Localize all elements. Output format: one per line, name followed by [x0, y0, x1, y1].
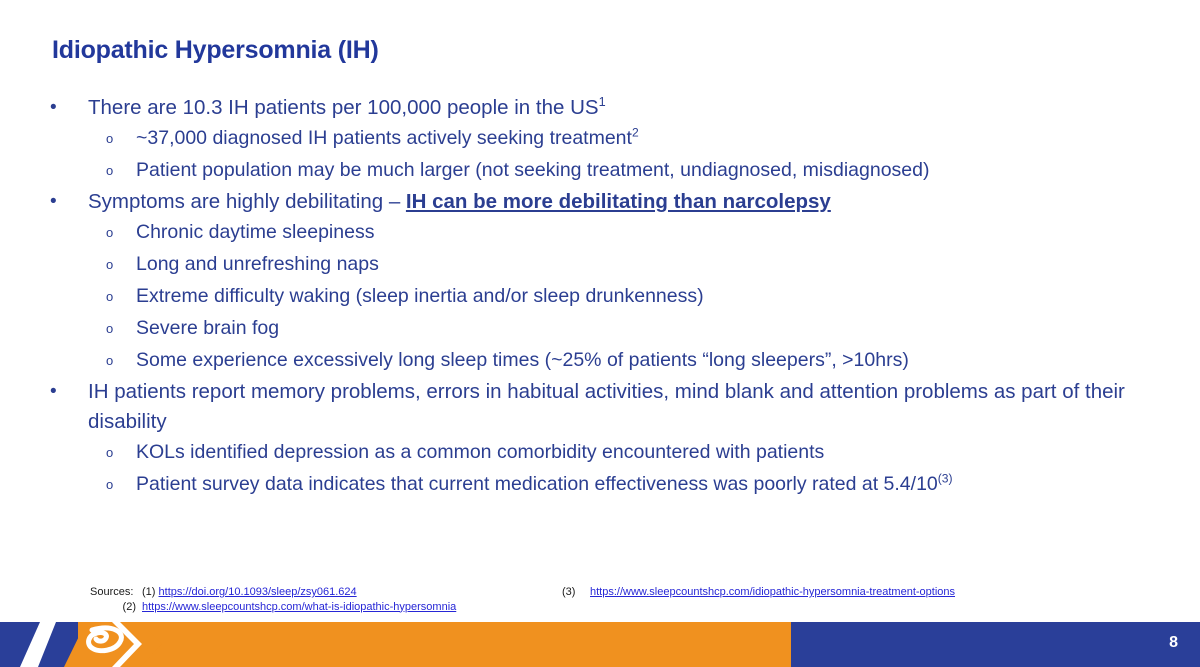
bullet-item-level2: o Chronic daytime sleepiness	[44, 217, 1154, 249]
company-logo-icon	[0, 618, 170, 667]
sources-footnote: Sources: (1) https://doi.org/10.1093/sle…	[90, 585, 955, 614]
sources-label: Sources:	[90, 585, 142, 600]
bullet-text: Patient survey data indicates that curre…	[136, 469, 1154, 499]
source-number: (1)	[142, 586, 155, 598]
source-number-2: (2)	[123, 600, 142, 615]
page-title: Idiopathic Hypersomnia (IH)	[52, 36, 379, 65]
bullet-item-level2: o KOLs identified depression as a common…	[44, 437, 1154, 469]
source-number-3: (3)	[562, 585, 590, 600]
bullet-text: Extreme difficulty waking (sleep inertia…	[136, 281, 1154, 311]
bullet-item-level2: o Patient survey data indicates that cur…	[44, 469, 1154, 501]
bullet-text: IH patients report memory problems, erro…	[88, 377, 1154, 437]
bullet-text: Patient population may be much larger (n…	[136, 155, 1154, 185]
emphasized-phrase: IH can be more debilitating than narcole…	[406, 190, 831, 213]
bullet-text: There are 10.3 IH patients per 100,000 p…	[88, 93, 1154, 123]
bullet-marker-circle-icon: o	[44, 217, 136, 249]
source-link-1[interactable]: https://doi.org/10.1093/sleep/zsy061.624	[159, 586, 357, 598]
footer-bar: 8	[0, 622, 1200, 667]
bullet-text: Severe brain fog	[136, 313, 1154, 343]
bullet-item-level2: o Extreme difficulty waking (sleep inert…	[44, 281, 1154, 313]
source-link-2[interactable]: https://www.sleepcountshcp.com/what-is-i…	[142, 600, 562, 615]
footnote-ref: 1	[599, 94, 606, 109]
bullet-item-level2: o Long and unrefreshing naps	[44, 249, 1154, 281]
footnote-ref: (3)	[938, 472, 953, 486]
bullet-list: • There are 10.3 IH patients per 100,000…	[44, 93, 1154, 501]
footer-blue-band	[791, 622, 1200, 667]
bullet-item-level2: o Patient population may be much larger …	[44, 155, 1154, 187]
bullet-item-level1: • IH patients report memory problems, er…	[44, 377, 1154, 437]
bullet-marker-dot-icon: •	[44, 377, 88, 407]
footnote-ref: 2	[632, 126, 639, 140]
bullet-marker-circle-icon: o	[44, 469, 136, 501]
bullet-marker-circle-icon: o	[44, 123, 136, 155]
bullet-text: Chronic daytime sleepiness	[136, 217, 1154, 247]
bullet-item-level2: o Some experience excessively long sleep…	[44, 345, 1154, 377]
bullet-item-level2: o ~37,000 diagnosed IH patients actively…	[44, 123, 1154, 155]
bullet-marker-circle-icon: o	[44, 155, 136, 187]
bullet-text: Symptoms are highly debilitating – IH ca…	[88, 187, 1154, 217]
bullet-text: Some experience excessively long sleep t…	[136, 345, 1154, 375]
bullet-item-level2: o Severe brain fog	[44, 313, 1154, 345]
bullet-marker-circle-icon: o	[44, 249, 136, 281]
bullet-marker-dot-icon: •	[44, 93, 88, 123]
bullet-marker-circle-icon: o	[44, 281, 136, 313]
bullet-text: Long and unrefreshing naps	[136, 249, 1154, 279]
bullet-item-level1: • There are 10.3 IH patients per 100,000…	[44, 93, 1154, 123]
bullet-text: KOLs identified depression as a common c…	[136, 437, 1154, 467]
bullet-marker-circle-icon: o	[44, 437, 136, 469]
slide-canvas: Idiopathic Hypersomnia (IH) • There are …	[0, 0, 1200, 667]
bullet-marker-dot-icon: •	[44, 187, 88, 217]
bullet-item-level1: • Symptoms are highly debilitating – IH …	[44, 187, 1154, 217]
bullet-text: ~37,000 diagnosed IH patients actively s…	[136, 123, 1154, 153]
page-number: 8	[1169, 634, 1178, 652]
bullet-marker-circle-icon: o	[44, 313, 136, 345]
bullet-marker-circle-icon: o	[44, 345, 136, 377]
source-link-3[interactable]: https://www.sleepcountshcp.com/idiopathi…	[590, 585, 955, 600]
source-entry-1: (1) https://doi.org/10.1093/sleep/zsy061…	[142, 585, 562, 600]
